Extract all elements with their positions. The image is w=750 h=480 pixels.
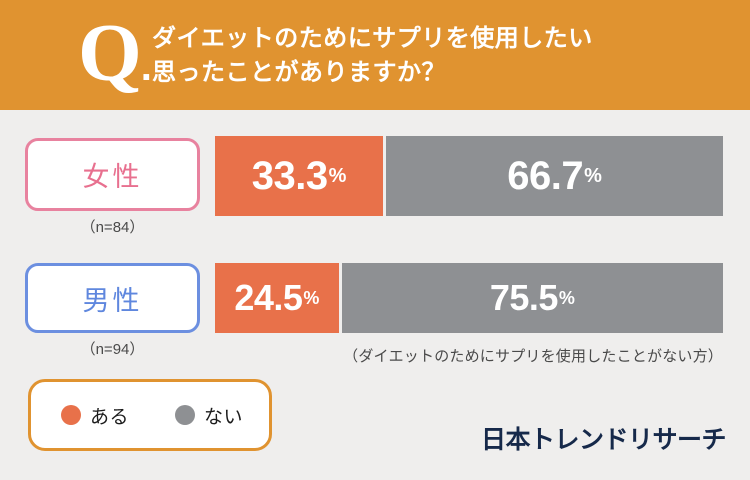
legend-item-no: ない <box>175 402 243 429</box>
question-line-2: 思ったことがありますか？ <box>152 56 732 90</box>
q-dot: . <box>141 45 151 89</box>
category-label-female: 女性 <box>83 155 143 194</box>
bar-value-no-female: 66.7 <box>507 156 583 196</box>
sample-size-male: （n=94） <box>25 338 200 359</box>
chart-row-female: 女性 （n=84） 33.3% 66.7% <box>0 130 750 240</box>
chart-note: （ダイエットのためにサプリを使用したことがない方） <box>343 345 723 366</box>
legend-box: ある ない <box>28 379 272 451</box>
bar-unit-yes-male: % <box>303 288 319 309</box>
bar-segment-no-female: 66.7% <box>386 136 723 216</box>
category-box-female: 女性 <box>25 138 200 211</box>
header-banner: Q. ダイエットのためにサプリを使用したい 思ったことがありますか？ <box>0 0 750 110</box>
legend-item-yes: ある <box>61 402 129 429</box>
legend-label-yes: ある <box>90 402 129 429</box>
category-label-male: 男性 <box>83 279 143 318</box>
bar-segment-no-male: 75.5% <box>342 263 723 333</box>
stacked-bar-female: 33.3% 66.7% <box>215 136 723 216</box>
bar-value-no-male: 75.5 <box>490 280 558 316</box>
bar-unit-yes-female: % <box>329 165 347 188</box>
circle-marker-icon-no <box>175 405 195 425</box>
sample-size-female: （n=84） <box>25 216 200 237</box>
legend-label-no: ない <box>204 402 243 429</box>
q-letter: Q <box>78 7 141 98</box>
bar-segment-yes-female: 33.3% <box>215 136 383 216</box>
brand-logo: 日本トレンドリサーチ <box>481 420 726 456</box>
stacked-bar-male: 24.5% 75.5% <box>215 263 723 333</box>
bar-unit-no-male: % <box>559 288 575 309</box>
question-text: ダイエットのためにサプリを使用したい 思ったことがありますか？ <box>152 22 732 90</box>
question-line-1: ダイエットのためにサプリを使用したい <box>152 22 732 56</box>
infographic-root: Q. ダイエットのためにサプリを使用したい 思ったことがありますか？ 女性 （n… <box>0 0 750 480</box>
bar-value-yes-female: 33.3 <box>252 156 328 196</box>
bar-unit-no-female: % <box>584 165 602 188</box>
bar-segment-yes-male: 24.5% <box>215 263 339 333</box>
category-box-male: 男性 <box>25 263 200 333</box>
question-mark-glyph: Q. <box>78 8 151 112</box>
bar-value-yes-male: 24.5 <box>234 280 302 316</box>
circle-marker-icon-yes <box>61 405 81 425</box>
